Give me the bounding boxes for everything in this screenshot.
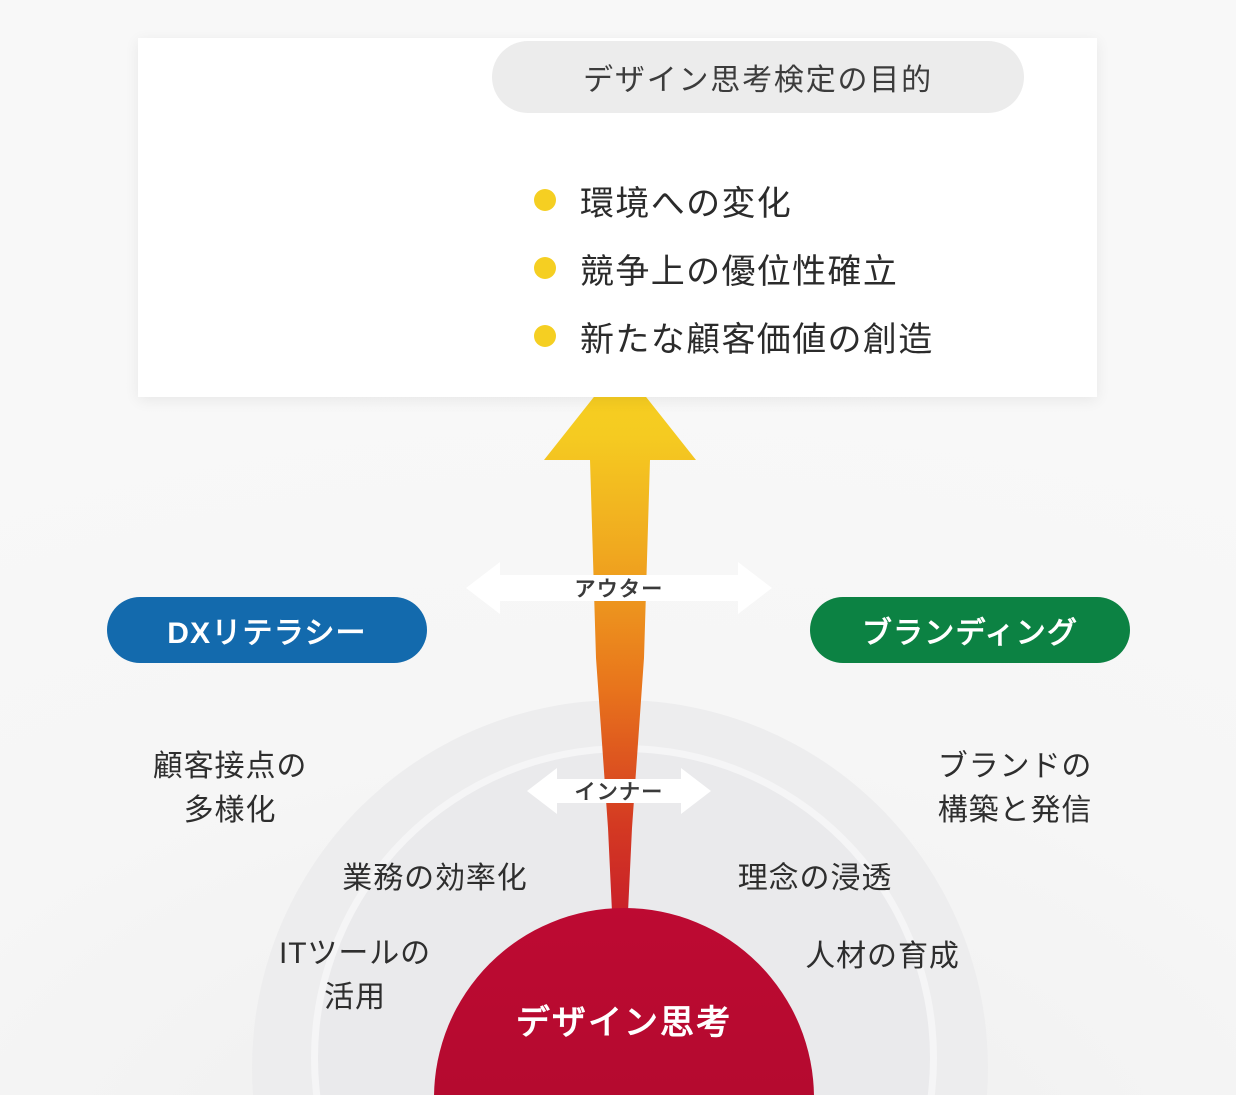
pill-branding[interactable]: ブランディング (810, 597, 1130, 663)
bullet-dot-icon (534, 325, 556, 347)
label-brand-building: ブランドの 構築と発信 (890, 745, 1140, 832)
label-work-efficiency: 業務の効率化 (300, 857, 570, 901)
purpose-bullet-list: 環境への変化 競争上の優位性確立 新たな顧客価値の創造 (534, 166, 934, 370)
outer-scope-band: アウター (466, 560, 772, 616)
bullet-label: 環境への変化 (580, 176, 792, 225)
list-item: 環境への変化 (534, 166, 934, 234)
outer-scope-label: アウター (574, 573, 663, 603)
list-item: 新たな顧客価値の創造 (534, 302, 934, 370)
label-customer-touchpoints: 顧客接点の 多様化 (105, 745, 355, 832)
diagram-canvas: デザイン思考 デザイン思考検定の目的 環境への変化 競争上の優位性確立 新たな顧… (0, 0, 1236, 1095)
core-label: デザイン思考 (434, 995, 814, 1044)
pill-dx-literacy[interactable]: DXリテラシー (107, 597, 427, 663)
bullet-label: 競争上の優位性確立 (580, 244, 898, 293)
panel-title-pill: デザイン思考検定の目的 (492, 41, 1024, 113)
purpose-panel: デザイン思考検定の目的 環境への変化 競争上の優位性確立 新たな顧客価値の創造 (138, 38, 1097, 397)
label-philosophy: 理念の浸透 (690, 857, 940, 901)
inner-scope-label: インナー (574, 776, 663, 806)
inner-scope-band: インナー (527, 766, 711, 816)
bullet-dot-icon (534, 257, 556, 279)
label-talent-development: 人材の育成 (765, 935, 1000, 979)
bullet-label: 新たな顧客価値の創造 (580, 312, 934, 361)
bullet-dot-icon (534, 189, 556, 211)
list-item: 競争上の優位性確立 (534, 234, 934, 302)
